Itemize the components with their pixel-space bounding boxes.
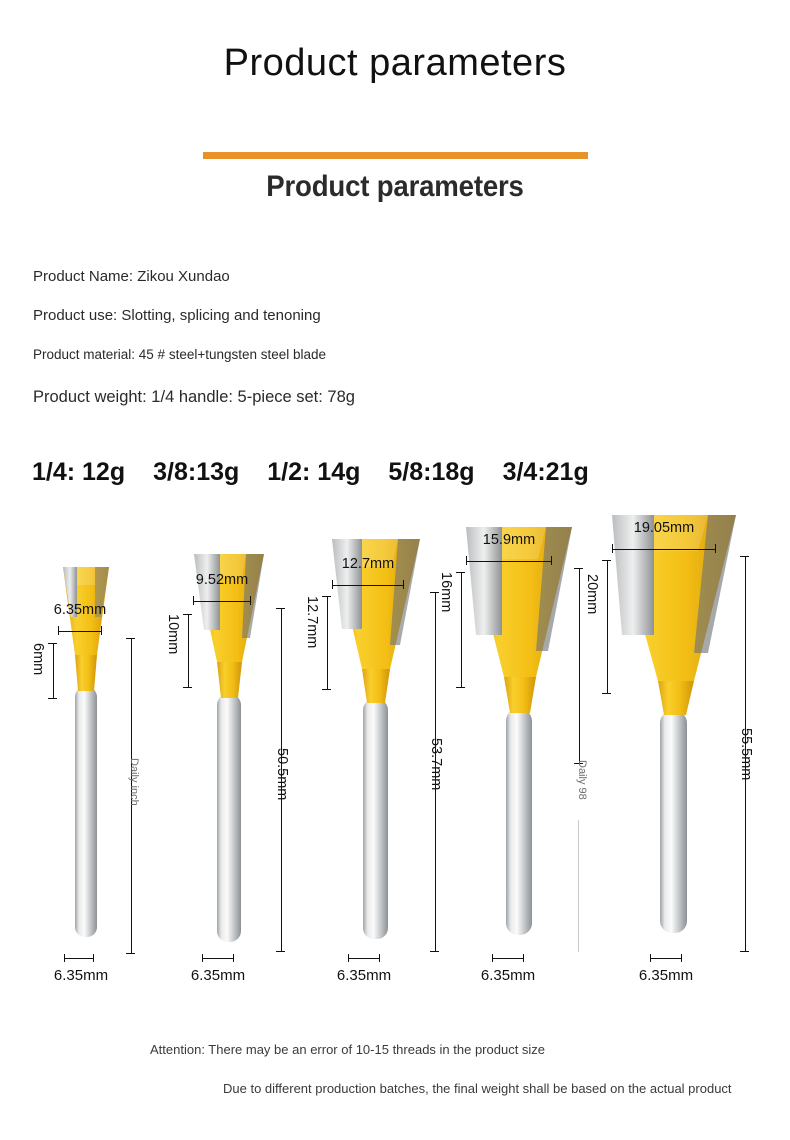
- bit-3-8: 9.52mm 10mm 50.5mm 6.35mm: [168, 530, 308, 990]
- bit-1-4: 6.35mm 6mm Daily inch 6.35mm: [30, 530, 160, 990]
- bit-5-8-width-label: 15.9mm: [454, 532, 564, 548]
- bit-3-4-illustration: [608, 505, 742, 954]
- bit-5-8: 15.9mm 16mm Daily 98 6.35mm: [448, 530, 603, 990]
- bit-5-8-length-faint-line: [578, 820, 579, 952]
- bit-3-4-shank-bracket: [650, 954, 682, 962]
- bit-1-2-illustration: [328, 529, 426, 954]
- weight-row: 1/4: 12g 3/8:13g 1/2: 14g 5/8:18g 3/4:21…: [32, 458, 772, 487]
- bit-1-2-width-label: 12.7mm: [318, 556, 418, 572]
- bit-1-4-width-label: 6.35mm: [44, 602, 116, 618]
- bit-3-8-height-bracket: [183, 614, 192, 688]
- bit-3-8-length-label: 50.5mm: [274, 748, 290, 800]
- bit-1-2-height-bracket: [322, 596, 331, 690]
- bit-1-4-width-bracket: [58, 626, 102, 635]
- bit-3-8-illustration: [190, 544, 270, 954]
- attention-note: Attention: There may be an error of 10-1…: [150, 1042, 545, 1057]
- bit-5-8-height-bracket: [456, 572, 465, 688]
- spec-product-weight: Product weight: 1/4 handle: 5-piece set:…: [33, 388, 573, 407]
- weight-3-4: 3/4:21g: [503, 458, 589, 487]
- bit-1-2-width-bracket: [332, 580, 404, 589]
- bit-1-4-height-bracket: [48, 643, 57, 699]
- bit-3-4-height-label: 20mm: [584, 574, 600, 614]
- bit-3-4-height-bracket: [602, 560, 611, 694]
- weight-1-4: 1/4: 12g: [32, 458, 125, 487]
- bit-3-8-height-label: 10mm: [165, 614, 181, 654]
- accent-divider: [203, 152, 588, 159]
- bit-3-4-shank-label: 6.35mm: [621, 967, 711, 984]
- bit-3-8-shank-label: 6.35mm: [173, 967, 263, 984]
- bit-3-8-width-bracket: [193, 596, 251, 605]
- bit-1-2-shank-bracket: [348, 954, 380, 962]
- bit-5-8-length-bracket: [574, 568, 583, 764]
- product-parameters-page: Product parameters Product parameters Pr…: [0, 0, 790, 1140]
- page-title-light: Product parameters: [0, 42, 790, 85]
- bit-1-4-length-label: Daily inch: [128, 758, 140, 806]
- bit-1-4-shank-label: 6.35mm: [36, 967, 126, 984]
- batch-note: Due to different production batches, the…: [223, 1081, 732, 1096]
- spec-product-material: Product material: 45 # steel+tungsten st…: [33, 347, 573, 362]
- bit-3-4-width-label: 19.05mm: [598, 520, 730, 536]
- bit-5-8-width-bracket: [466, 556, 552, 565]
- bit-3-4-width-bracket: [612, 544, 716, 553]
- spec-product-use: Product use: Slotting, splicing and teno…: [33, 307, 573, 324]
- weight-1-2: 1/2: 14g: [267, 458, 360, 487]
- bit-5-8-illustration: [462, 517, 578, 954]
- bit-diagram-row: 6.35mm 6mm Daily inch 6.35mm: [0, 530, 790, 990]
- bit-3-8-shank-bracket: [202, 954, 234, 962]
- bit-1-4-height-label: 6mm: [30, 643, 46, 675]
- bit-5-8-length-label: Daily 98: [576, 760, 588, 800]
- bit-1-2-height-label: 12.7mm: [304, 596, 320, 648]
- bit-1-2-shank-label: 6.35mm: [319, 967, 409, 984]
- bit-5-8-height-label: 16mm: [438, 572, 454, 612]
- weight-3-8: 3/8:13g: [153, 458, 239, 487]
- bit-1-4-illustration: [57, 559, 115, 954]
- weight-5-8: 5/8:18g: [388, 458, 474, 487]
- spec-product-name: Product Name: Zikou Xundao: [33, 268, 573, 285]
- bit-1-2-length-label: 53.7mm: [428, 738, 444, 790]
- bit-3-8-width-label: 9.52mm: [176, 572, 268, 588]
- bit-3-4-length-label: 55.5mm: [738, 728, 754, 780]
- spec-list: Product Name: Zikou Xundao Product use: …: [33, 268, 573, 407]
- bit-5-8-shank-label: 6.35mm: [463, 967, 553, 984]
- bit-1-4-shank-bracket: [64, 954, 94, 962]
- bit-3-4: 19.05mm 20mm 55.5mm 6.35mm: [598, 530, 773, 990]
- bit-5-8-shank-bracket: [492, 954, 524, 962]
- page-title-bold: Product parameters: [32, 170, 759, 204]
